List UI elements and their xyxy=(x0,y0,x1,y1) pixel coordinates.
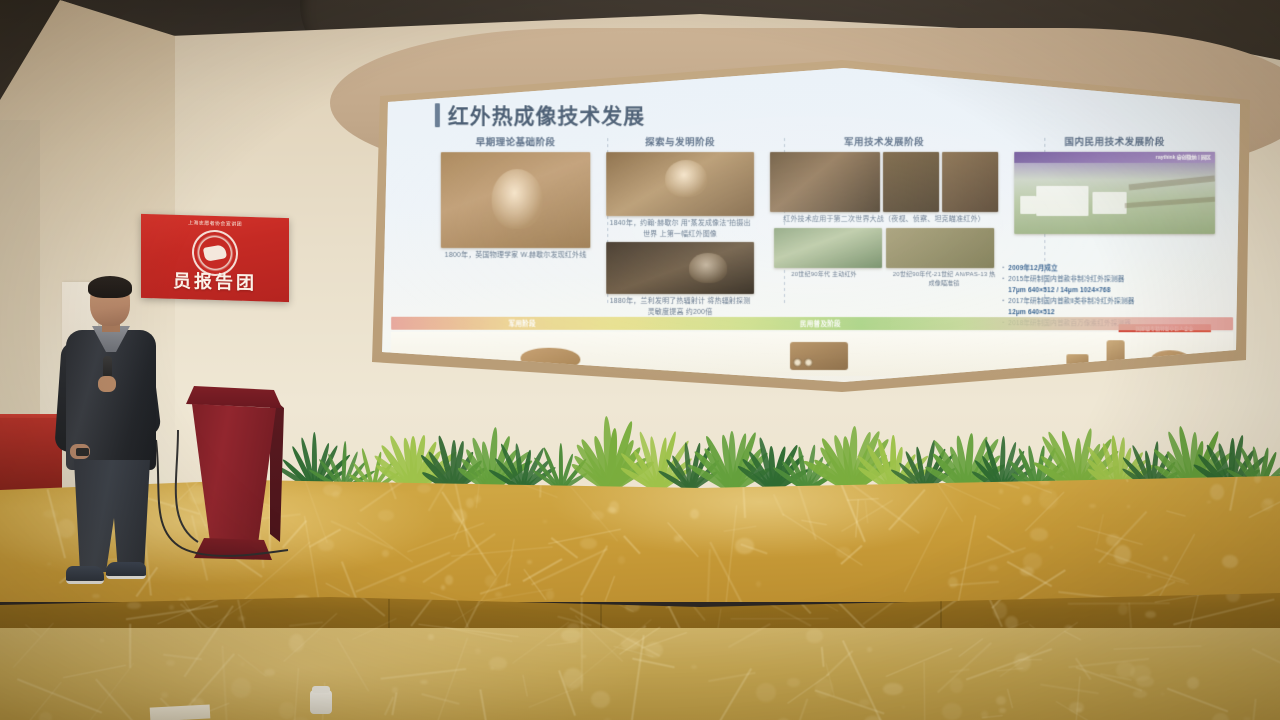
marble-blob xyxy=(563,668,583,689)
marble-vein xyxy=(801,520,827,526)
marble-blob xyxy=(948,577,958,588)
marble-blob xyxy=(1116,662,1135,677)
marble-blob xyxy=(883,683,903,695)
marble-blob xyxy=(806,629,823,644)
marble-blob xyxy=(1163,556,1168,561)
marble-blob xyxy=(466,498,474,508)
marble-blob xyxy=(495,592,502,596)
marble-blob xyxy=(485,575,498,587)
marble-blob xyxy=(561,629,581,642)
anpas13-sight-image xyxy=(886,228,994,268)
marble-blob xyxy=(527,560,533,564)
marble-vein xyxy=(903,507,947,593)
marble-blob xyxy=(756,683,777,702)
marble-blob xyxy=(445,575,453,584)
marble-vein xyxy=(723,525,756,531)
marble-blob xyxy=(1210,484,1224,500)
marble-vein xyxy=(999,621,1078,676)
marble-blob xyxy=(674,535,682,542)
marble-vein xyxy=(1173,599,1274,626)
marble-blob xyxy=(787,678,801,687)
marble-vein xyxy=(1251,699,1256,720)
marble-vein xyxy=(798,699,809,720)
marble-blob xyxy=(1145,611,1155,618)
handshake-icon xyxy=(203,244,227,262)
marble-blob xyxy=(942,703,962,720)
marble-blob xyxy=(1187,677,1199,689)
marble-vein xyxy=(731,618,829,619)
marble-blob xyxy=(1050,546,1053,549)
marble-vein xyxy=(773,494,784,516)
marble-blob xyxy=(238,616,246,621)
marble-blob xyxy=(417,484,430,493)
marble-blob xyxy=(1207,501,1211,503)
raythink-factory-aerial-image: raythink 睿创微纳 | 园区 xyxy=(1014,152,1215,234)
marble-vein xyxy=(129,624,131,668)
marble-blob xyxy=(420,680,428,684)
list-item: •17μm 640×512 / 14μm 1024×768 xyxy=(1002,286,1211,296)
marble-blob xyxy=(1222,555,1238,568)
marble-blob xyxy=(1118,604,1128,615)
column-military: 军用技术发展阶段 红外技术应用于第二次世界大战（夜视、侦察、坦克瞄准红外） 20… xyxy=(762,134,1006,314)
marble-vein xyxy=(1155,534,1196,605)
column-caption: 20世纪90年代-21世纪 AN/PAS-13 热成像瞄准镜 xyxy=(890,271,998,289)
marble-vein xyxy=(337,638,369,692)
marble-vein xyxy=(1251,648,1280,668)
marble-vein xyxy=(950,548,1026,575)
presentation-clicker-icon xyxy=(76,448,89,456)
column-heading: 国内民用技术发展阶段 xyxy=(1014,134,1215,148)
milestone-text: 2017年研制国内首款Ⅱ类非制冷红外探测器 xyxy=(1008,297,1134,307)
marble-blob xyxy=(39,712,52,720)
projector-screen: Raythink 红外热成像技术发展 早期理论基础阶段 1800年，英国物理学家… xyxy=(382,68,1240,382)
column-caption: 1800年，英国物理学家 W.赫歇尔发现红外线 xyxy=(441,251,590,262)
marble-vein xyxy=(708,672,756,682)
herschel-portrait-image xyxy=(441,152,590,248)
bullet-icon: • xyxy=(1002,297,1004,307)
presenter-shoe xyxy=(106,562,146,579)
marble-blob xyxy=(399,576,406,583)
marble-blob xyxy=(988,565,997,571)
water-bottle xyxy=(310,690,332,714)
timeline-gradient-bar: 军用阶段 民用普及阶段 xyxy=(391,317,1233,331)
marble-blob xyxy=(580,538,596,549)
marble-blob xyxy=(691,665,697,669)
marble-blob xyxy=(1039,489,1058,509)
marble-vein xyxy=(480,689,492,720)
marble-blob xyxy=(591,691,610,708)
slide-title-group: 红外热成像技术发展 xyxy=(435,100,645,130)
column-heading: 探索与发明阶段 xyxy=(606,134,754,148)
marble-vein xyxy=(623,536,641,555)
presenter xyxy=(58,278,170,588)
marble-vein xyxy=(783,513,863,565)
marble-blob xyxy=(996,696,1006,705)
marble-blob xyxy=(1030,528,1048,541)
marble-blob xyxy=(1212,713,1229,720)
marble-vein xyxy=(1064,631,1081,641)
marble-blob xyxy=(1089,504,1096,508)
title-accent-bar xyxy=(435,103,440,127)
marble-vein xyxy=(237,654,266,677)
flag-arc-text: 上海志愿者协会宣讲团 xyxy=(188,219,242,228)
marble-blob xyxy=(999,489,1004,494)
marble-blob xyxy=(950,678,963,693)
column-exploration: 探索与发明阶段 1840年，约翰·赫歇尔 用“蒸发成像法”拍摄出世界 上第一幅红… xyxy=(598,134,762,314)
marble-vein xyxy=(668,522,699,557)
factory-building xyxy=(1092,192,1126,214)
marble-vein xyxy=(604,575,615,601)
marble-vein xyxy=(522,674,528,696)
marble-blob xyxy=(1127,505,1130,508)
column-caption: 1840年，约翰·赫歇尔 用“蒸发成像法”拍摄出世界 上第一幅红外图像 xyxy=(606,219,754,240)
timeline-object-thermal-camera xyxy=(790,342,848,370)
langley-portrait-image xyxy=(606,152,754,216)
milestone-text: 2015年研制国内首款非制冷红外探测器 xyxy=(1008,275,1124,285)
marble-vein xyxy=(924,662,926,720)
marble-blob xyxy=(392,687,398,693)
marble-blob xyxy=(902,706,905,709)
marble-blob xyxy=(546,590,555,599)
marble-blob xyxy=(999,708,1005,713)
milestone-text: 2009年12月成立 xyxy=(1008,264,1058,274)
marble-blob xyxy=(279,702,295,718)
marble-blob xyxy=(1022,495,1031,506)
marble-blob xyxy=(382,550,389,557)
marble-blob xyxy=(1114,545,1131,564)
marble-blob xyxy=(100,639,104,642)
marble-vein xyxy=(325,583,350,597)
marble-blob xyxy=(867,647,872,652)
marble-blob xyxy=(993,602,1007,619)
wall-far-left xyxy=(0,120,40,420)
column-caption: 红外技术应用于第二次世界大战（夜视、侦察、坦克瞄准红外） xyxy=(770,215,998,226)
thermal-sight-image xyxy=(942,152,998,212)
marble-blob xyxy=(452,509,467,523)
marble-blob xyxy=(161,692,168,698)
factory-watermark: raythink 睿创微纳 | 园区 xyxy=(1156,154,1211,161)
marble-blob xyxy=(618,556,626,564)
apparatus-highlight-shape xyxy=(689,253,727,282)
marble-vein xyxy=(855,499,858,537)
marble-vein xyxy=(289,621,323,627)
red-draped-table xyxy=(0,418,62,490)
portrait-face-shape xyxy=(665,160,706,197)
presenter-legs xyxy=(74,460,150,572)
marble-vein xyxy=(1095,514,1103,545)
timeline-segment-label: 军用阶段 xyxy=(509,318,536,328)
marble-blob xyxy=(241,662,244,665)
marble-blob xyxy=(475,648,481,655)
marble-vein xyxy=(885,648,952,677)
marble-blob xyxy=(47,563,51,565)
marble-blob xyxy=(166,660,175,666)
marble-blob xyxy=(690,509,699,519)
column-caption: 20世纪90年代 主动红外 xyxy=(770,270,878,288)
presenter-hand-holding-mic xyxy=(98,376,116,392)
marble-blob xyxy=(441,585,445,590)
column-early-theory: 早期理论基础阶段 1800年，英国物理学家 W.赫歇尔发现红外线 xyxy=(433,134,598,314)
marble-vein xyxy=(827,650,854,676)
marble-blob xyxy=(1014,653,1031,672)
conference-hall-photo: 上海志愿者协会宣讲团 员报告团 Raythink 红外热成像技术发展 xyxy=(0,0,1280,720)
water-bottle-cap xyxy=(312,686,330,693)
factory-road xyxy=(1125,197,1215,208)
marble-vein xyxy=(1007,688,1013,708)
marble-blob xyxy=(428,634,434,640)
marble-vein xyxy=(1040,683,1099,694)
marble-blob xyxy=(127,602,141,609)
paper-sheet xyxy=(150,704,211,720)
column-caption: 1880年，兰利发明了热辐射计 将热辐射探测灵敏度提高 约200倍 xyxy=(606,297,754,318)
bullet-icon: • xyxy=(1002,275,1004,285)
marble-blob xyxy=(1147,575,1151,578)
marble-vein xyxy=(986,535,1013,552)
marble-vein xyxy=(1166,511,1185,517)
podium-cable xyxy=(176,430,198,542)
marble-blob xyxy=(264,669,274,676)
marble-blob xyxy=(489,657,507,670)
marble-blob xyxy=(1161,693,1164,696)
marble-blob xyxy=(543,520,547,523)
portrait-face-shape xyxy=(492,169,543,228)
marble-vein xyxy=(436,637,467,720)
marble-vein xyxy=(1056,701,1114,720)
marble-vein xyxy=(864,500,868,523)
marble-blob xyxy=(1106,534,1120,546)
marble-vein xyxy=(62,665,125,679)
marble-blob xyxy=(859,699,870,706)
timeline-segment-label: 民用普及阶段 xyxy=(800,318,841,328)
slide-title: 红外热成像技术发展 xyxy=(448,100,645,130)
marble-blob xyxy=(474,495,481,503)
marble-blob xyxy=(756,581,761,587)
marble-blob xyxy=(289,634,304,652)
marble-vein xyxy=(1167,687,1229,712)
marble-vein xyxy=(1113,646,1201,650)
marble-blob xyxy=(231,678,252,698)
list-item: •2015年研制国内首款非制冷红外探测器 xyxy=(1002,275,1211,285)
column-heading: 军用技术发展阶段 xyxy=(770,134,998,148)
factory-building xyxy=(1020,196,1036,214)
marble-blob xyxy=(864,716,881,720)
bullet-icon: • xyxy=(1002,264,1004,274)
marble-blob xyxy=(645,642,664,658)
presenter-shoe xyxy=(66,566,104,584)
presentation-slide: Raythink 红外热成像技术发展 早期理论基础阶段 1800年，英国物理学家… xyxy=(383,68,1240,382)
marble-vein xyxy=(422,693,460,704)
marble-vein xyxy=(821,647,824,667)
list-item: •2009年12月成立 xyxy=(1002,264,1211,274)
field-unit-image xyxy=(774,227,882,267)
early-apparatus-image xyxy=(606,242,754,294)
soldier-rifle-scope-image xyxy=(770,152,880,212)
marble-vein xyxy=(221,646,228,720)
milestone-text: 17μm 640×512 / 14μm 1024×768 xyxy=(1008,286,1110,296)
presenter-hair xyxy=(88,276,132,298)
column-heading: 早期理论基础阶段 xyxy=(441,134,590,148)
factory-building xyxy=(1036,186,1088,216)
night-vision-goggles-image xyxy=(883,152,939,212)
marble-blob xyxy=(169,605,174,610)
marble-blob xyxy=(609,501,619,513)
list-item: •2017年研制国内首款Ⅱ类非制冷红外探测器 xyxy=(1002,297,1211,307)
marble-blob xyxy=(92,594,100,599)
factory-road xyxy=(1129,175,1215,190)
